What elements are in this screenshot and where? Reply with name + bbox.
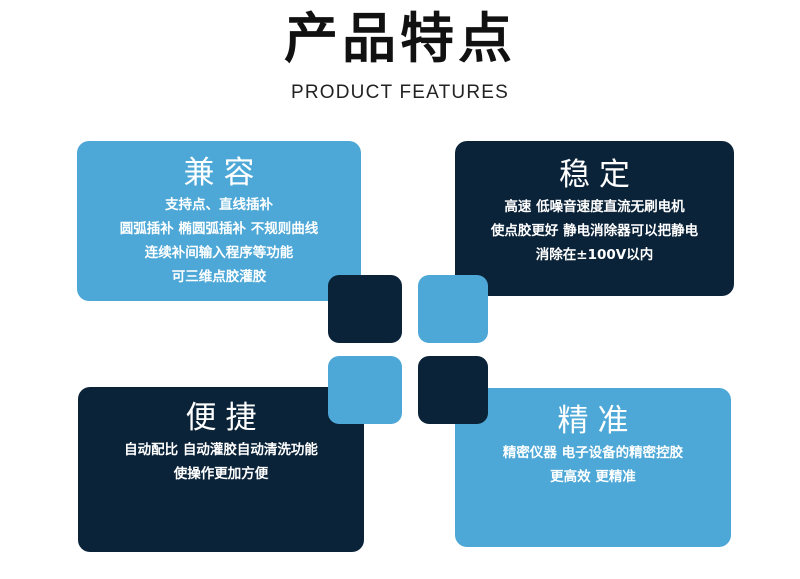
decoration-square-top-right [418,275,488,343]
feature-line: 连续补间输入程序等功能 [85,241,353,265]
feature-card-precision-body: 精密仪器 电子设备的精密控胶 更高效 更精准 [455,441,731,489]
feature-card-compatibility-body: 支持点、直线插补 圆弧插补 椭圆弧插补 不规则曲线 连续补间输入程序等功能 可三… [77,193,361,289]
feature-line: 消除在±100V以内 [463,243,726,267]
feature-card-convenience: 便捷 自动配比 自动灌胶自动清洗功能 使操作更加方便 [78,387,364,552]
feature-card-convenience-heading: 便捷 [78,398,364,438]
feature-card-compatibility: 兼容 支持点、直线插补 圆弧插补 椭圆弧插补 不规则曲线 连续补间输入程序等功能… [77,141,361,301]
page-title-cn: 产品特点 [0,0,800,72]
feature-line: 使操作更加方便 [86,462,356,486]
page-subtitle-en: PRODUCT FEATURES [0,72,800,104]
feature-line: 可三维点胶灌胶 [85,265,353,289]
feature-line: 更高效 更精准 [463,465,723,489]
feature-card-stability-body: 高速 低噪音速度直流无刷电机 使点胶更好 静电消除器可以把静电 消除在±100V… [455,195,734,267]
page-header: 产品特点 PRODUCT FEATURES [0,0,800,104]
product-features-page: 产品特点 PRODUCT FEATURES 兼容 支持点、直线插补 圆弧插补 椭… [0,0,800,579]
feature-line: 支持点、直线插补 [85,193,353,217]
feature-card-precision-heading: 精准 [455,401,731,441]
feature-card-stability-heading: 稳定 [455,155,734,195]
feature-line: 精密仪器 电子设备的精密控胶 [463,441,723,465]
feature-line: 使点胶更好 静电消除器可以把静电 [463,219,726,243]
feature-card-stability: 稳定 高速 低噪音速度直流无刷电机 使点胶更好 静电消除器可以把静电 消除在±1… [455,141,734,296]
feature-line: 自动配比 自动灌胶自动清洗功能 [86,438,356,462]
decoration-square-bottom-left [328,356,402,424]
feature-card-precision: 精准 精密仪器 电子设备的精密控胶 更高效 更精准 [455,388,731,547]
feature-line: 高速 低噪音速度直流无刷电机 [463,195,726,219]
decoration-square-bottom-right [418,356,488,424]
decoration-square-top-left [328,275,402,343]
feature-line: 圆弧插补 椭圆弧插补 不规则曲线 [85,217,353,241]
feature-card-convenience-body: 自动配比 自动灌胶自动清洗功能 使操作更加方便 [78,438,364,486]
feature-card-compatibility-heading: 兼容 [77,153,361,193]
